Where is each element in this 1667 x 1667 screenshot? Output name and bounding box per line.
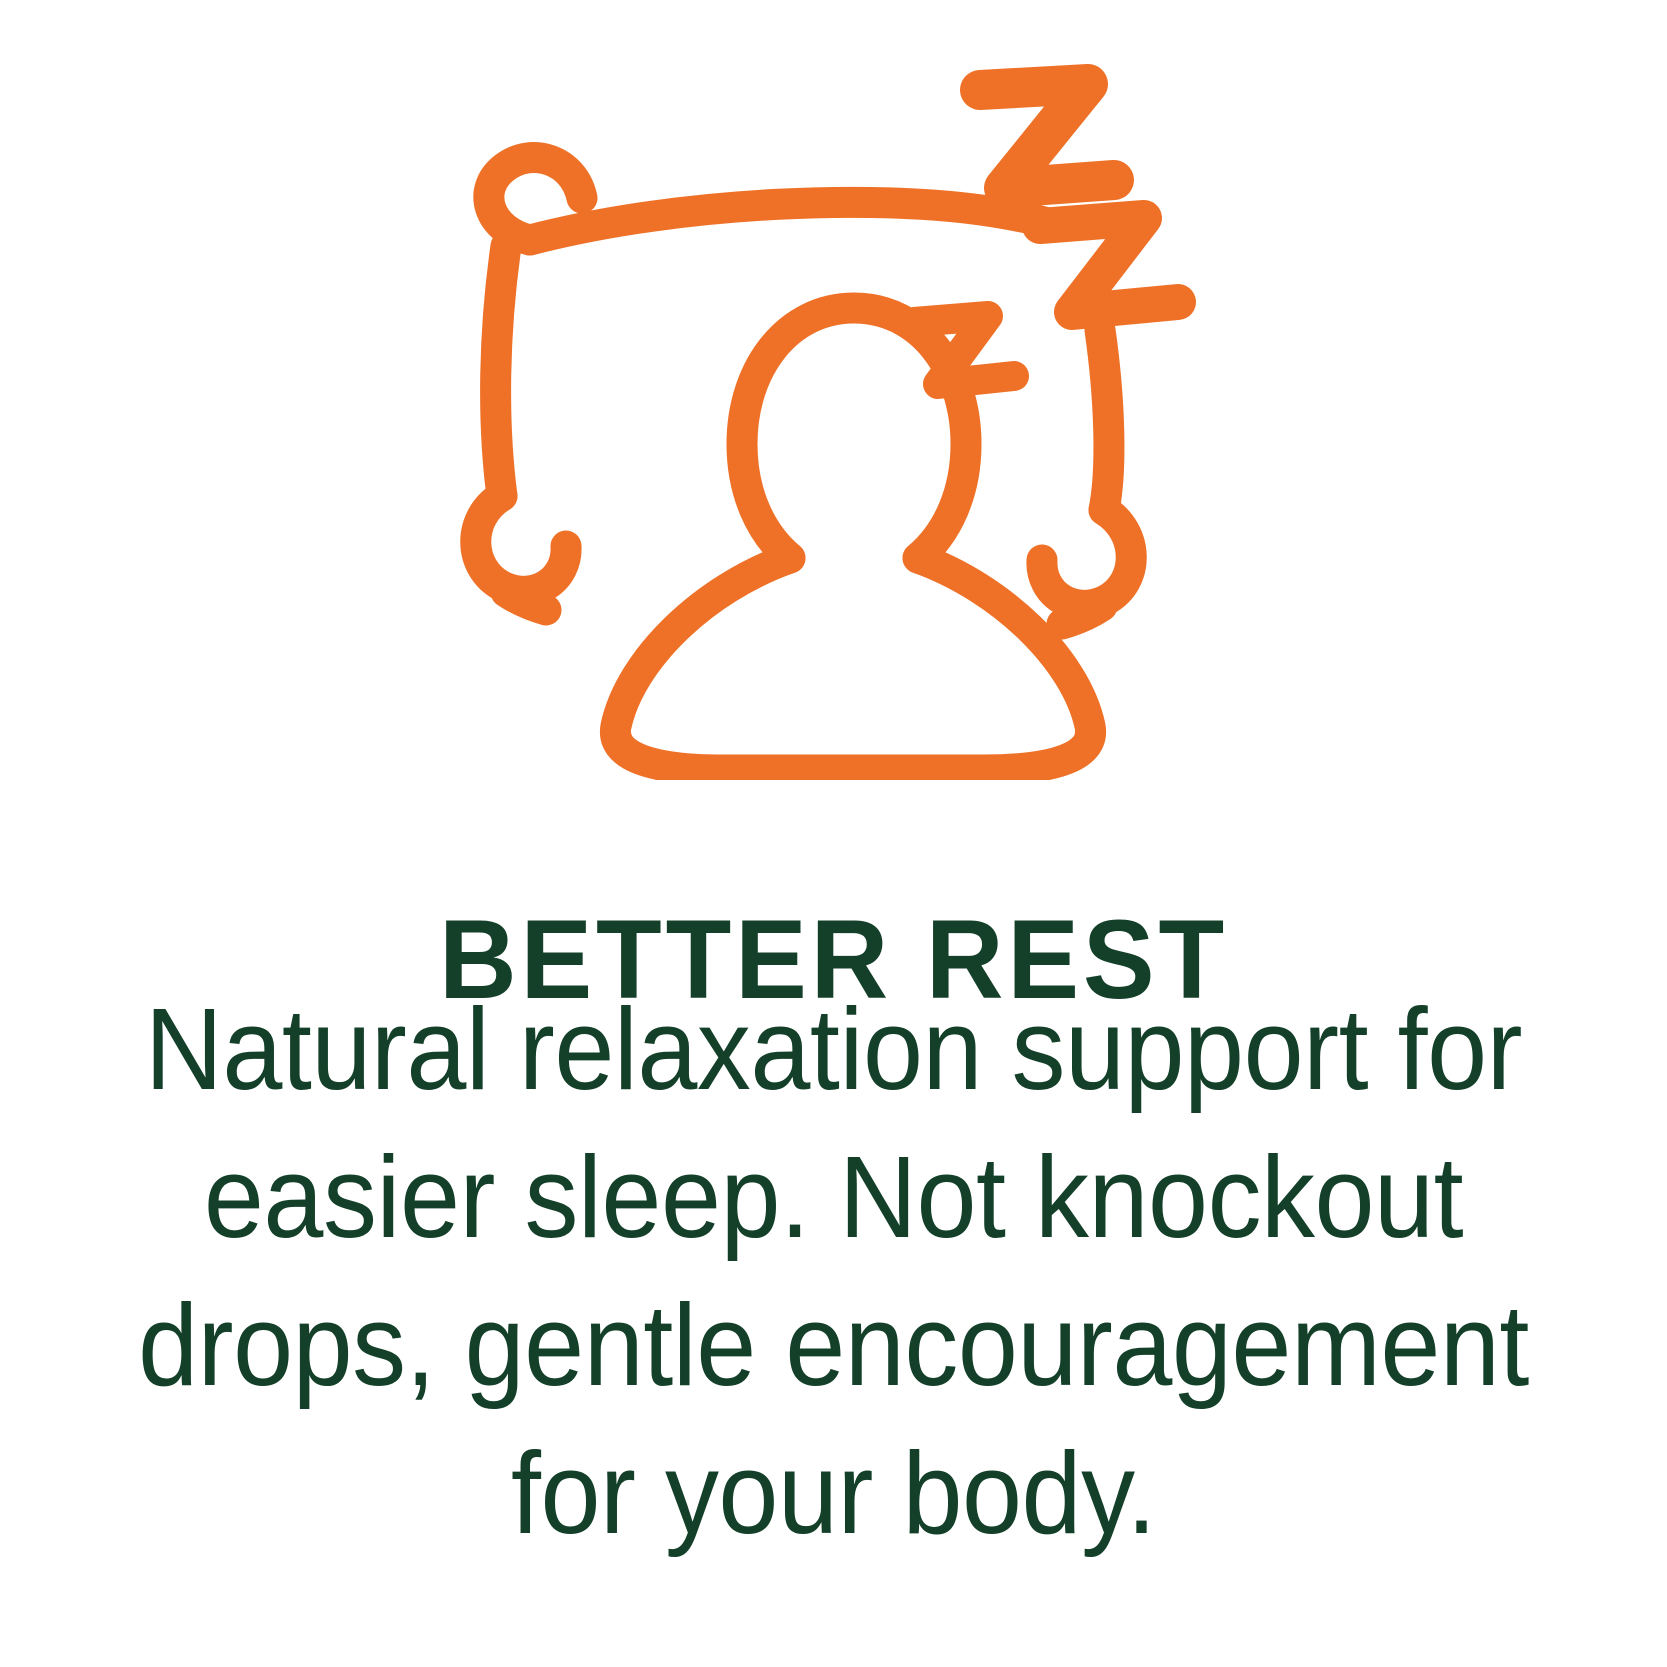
description-line-2: easier sleep. Not knockout: [86, 1123, 1581, 1271]
person-head-left: [742, 444, 790, 558]
z-medium-icon: [1040, 218, 1178, 312]
description-line-3: drops, gentle encouragement: [86, 1271, 1581, 1419]
better-rest-feature-card: BETTER REST Natural relaxation support f…: [0, 0, 1667, 1667]
description-line-4: for your body.: [86, 1419, 1581, 1567]
icon-container: [0, 40, 1667, 800]
description-line-1: Natural relaxation support for: [86, 975, 1581, 1123]
description-text: Natural relaxation support for easier sl…: [30, 975, 1637, 1567]
zzz-marks: [914, 84, 1178, 384]
sleeping-person-on-pillow-icon: [454, 40, 1214, 780]
z-large-icon: [980, 84, 1114, 188]
person-shoulders: [615, 558, 1090, 770]
